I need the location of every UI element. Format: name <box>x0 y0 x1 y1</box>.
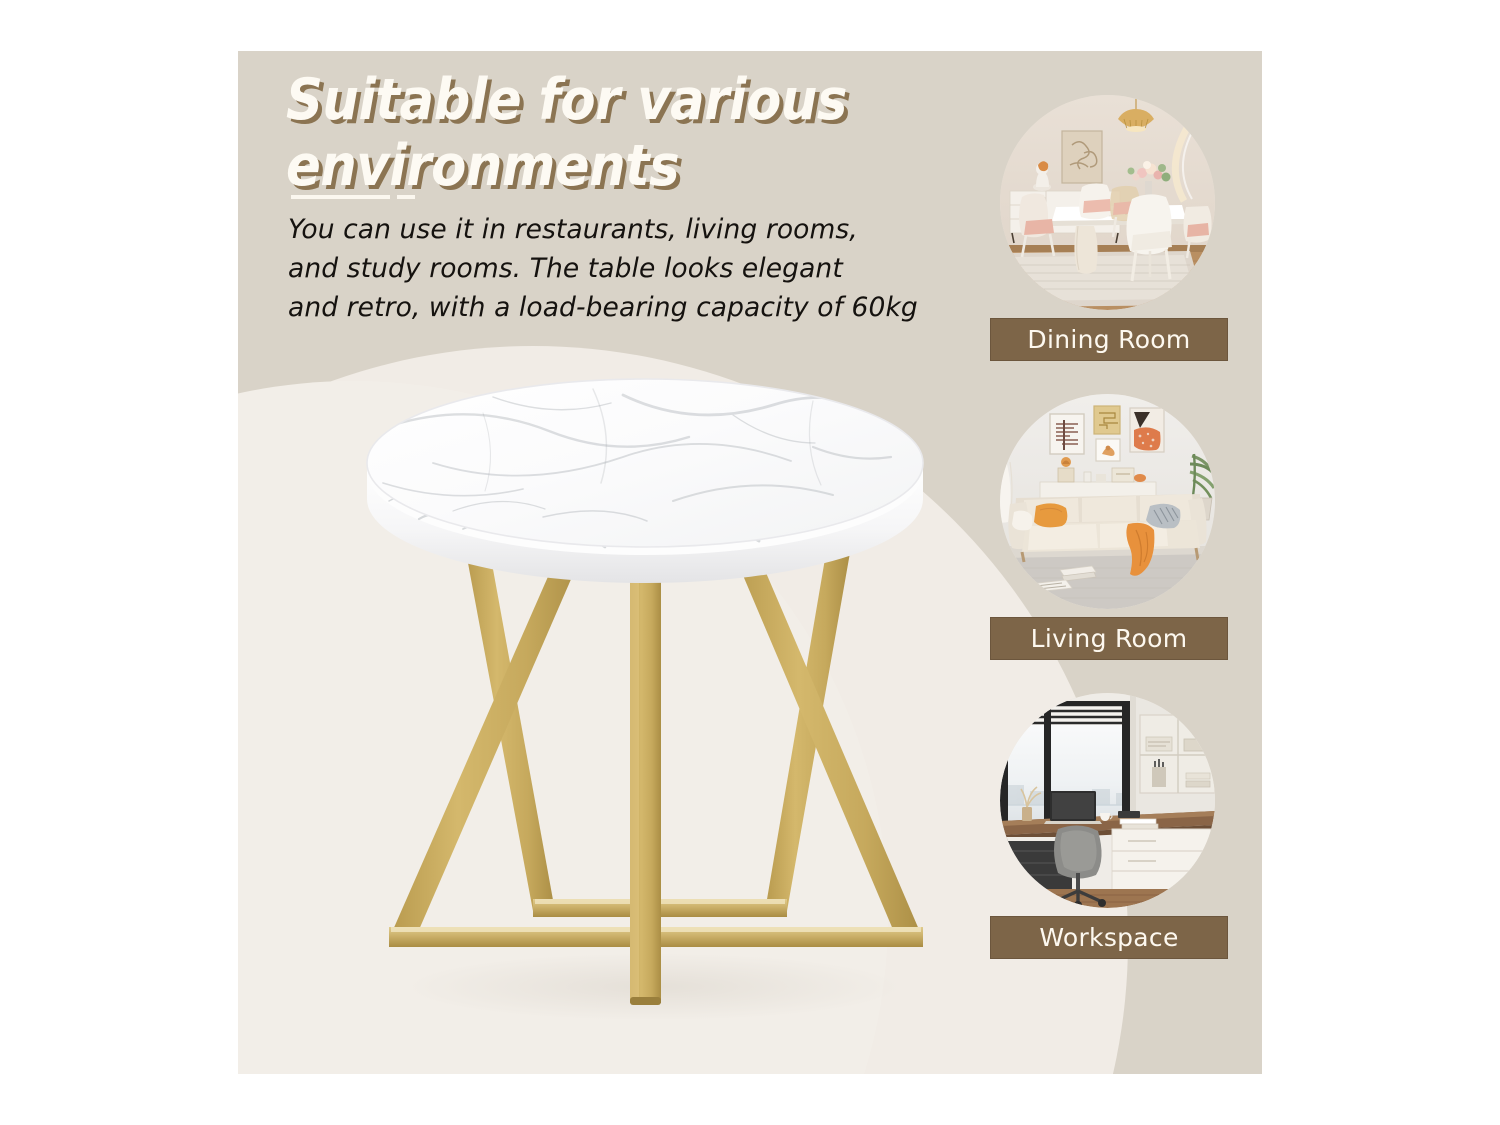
caption-label: Dining Room <box>1027 325 1190 354</box>
thumbnail-dining-room <box>1000 95 1215 310</box>
divider-segment-short <box>397 195 415 199</box>
content-panel: Suitable for various environments You ca… <box>238 51 1262 1074</box>
product-image-round-table <box>293 351 993 1051</box>
workspace-scene <box>1000 693 1215 908</box>
table-top <box>367 379 923 583</box>
living-room-scene <box>1000 394 1215 609</box>
thumbnail-workspace <box>1000 693 1215 908</box>
caption-label: Living Room <box>1031 624 1188 653</box>
dining-room-scene <box>1000 95 1215 310</box>
card-dining-room[interactable]: Dining Room <box>990 95 1240 361</box>
caption-dining-room: Dining Room <box>990 318 1228 361</box>
caption-living-room: Living Room <box>990 617 1228 660</box>
title-divider <box>291 192 421 202</box>
usage-scenario-cards: Dining Room <box>990 95 1240 992</box>
card-living-room[interactable]: Living Room <box>990 394 1240 660</box>
page-title: Suitable for various environments <box>286 67 976 199</box>
chair-back-center <box>1079 183 1111 219</box>
thumbnail-living-room <box>1000 394 1215 609</box>
divider-segment-long <box>291 195 390 199</box>
caption-label: Workspace <box>1039 923 1178 952</box>
caption-workspace: Workspace <box>990 916 1228 959</box>
card-workspace[interactable]: Workspace <box>990 693 1240 959</box>
table-illustration <box>293 351 993 1051</box>
product-infographic: Suitable for various environments You ca… <box>0 0 1500 1125</box>
body-description: You can use it in restaurants, living ro… <box>288 210 998 327</box>
table-base-center-post <box>630 541 661 1005</box>
heading-block: Suitable for various environments <box>286 67 976 199</box>
